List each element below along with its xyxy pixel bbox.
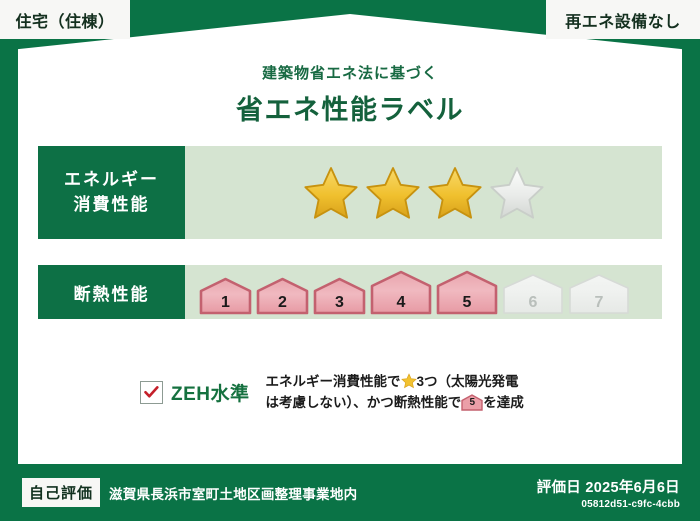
energy-performance-label-cell: エネルギー 消費性能 (38, 146, 185, 239)
insulation-badge-number: 5 (436, 294, 498, 312)
insulation-badge-2: 2 (256, 277, 309, 315)
property-address: 滋賀県長浜市室町土地区画整理事業地内 (109, 483, 357, 503)
insulation-rating-panel: 1234567 (185, 265, 662, 319)
insulation-badge-3: 3 (313, 277, 366, 315)
insulation-badge-number: 4 (370, 294, 432, 312)
insulation-performance-label-cell: 断熱性能 (38, 265, 185, 319)
zeh-checkbox[interactable] (140, 381, 163, 404)
insulation-badge-6: 6 (502, 273, 564, 315)
insulation-badge-number: 1 (199, 294, 252, 312)
energy-rating-panel (185, 146, 662, 239)
check-icon (144, 386, 159, 399)
insulation-badge-number: 7 (568, 294, 630, 312)
zeh-desc-line2-b: を達成 (483, 395, 524, 410)
evaluation-date: 評価日 2025年6月6日 (537, 476, 680, 497)
building-type-tag: 住宅（住棟） (0, 0, 130, 39)
zeh-desc-line1-b: 3つ（太陽光発電 (417, 374, 519, 389)
zeh-standard-section: ZEH水準 エネルギー消費性能で3つ（太陽光発電 は考慮しない）、かつ断熱性能で… (140, 372, 524, 414)
insulation-label-text: 断熱性能 (74, 280, 150, 305)
star-empty-icon (488, 165, 546, 221)
energy-performance-row: エネルギー 消費性能 (38, 146, 662, 239)
star-rating (302, 165, 546, 221)
zeh-desc-line2-a: は考慮しない）、かつ断熱性能で (266, 395, 462, 410)
inline-badge-number: 5 (461, 395, 483, 411)
zeh-label-text: ZEH水準 (171, 379, 250, 406)
zeh-desc-line1-a: エネルギー消費性能で (266, 374, 401, 389)
insulation-badge-1: 1 (199, 277, 252, 315)
insulation-performance-row: 断熱性能 1234567 (38, 265, 662, 319)
star-filled-icon (302, 165, 360, 221)
insulation-badge-7: 7 (568, 273, 630, 315)
energy-label-line2: 消費性能 (74, 193, 150, 218)
zeh-checkbox-group: ZEH水準 (140, 379, 250, 406)
self-evaluation-badge: 自己評価 (22, 478, 100, 507)
insulation-grade-badges: 1234567 (199, 270, 630, 315)
label-main-title: 省エネ性能ラベル (0, 88, 700, 127)
footer-right-group: 評価日 2025年6月6日 05812d51-c9fc-4cbb (537, 476, 680, 510)
renewable-energy-tag: 再エネ設備なし (546, 0, 700, 39)
star-icon (401, 373, 417, 389)
title-block: 建築物省エネ法に基づく 省エネ性能ラベル (0, 62, 700, 127)
insulation-badge-4: 4 (370, 270, 432, 315)
star-filled-icon (426, 165, 484, 221)
energy-label-line1: エネルギー (64, 168, 159, 193)
footer-bar: 自己評価 滋賀県長浜市室町土地区画整理事業地内 評価日 2025年6月6日 05… (0, 464, 700, 521)
document-id: 05812d51-c9fc-4cbb (537, 499, 680, 510)
insulation-badge-5: 5 (436, 270, 498, 315)
star-filled-icon (364, 165, 422, 221)
zeh-description: エネルギー消費性能で3つ（太陽光発電 は考慮しない）、かつ断熱性能で5を達成 (266, 372, 524, 414)
insulation-badge-number: 6 (502, 294, 564, 312)
energy-performance-label: 住宅（住棟） 再エネ設備なし 建築物省エネ法に基づく 省エネ性能ラベル エネルギ… (0, 0, 700, 521)
inline-insulation-badge: 5 (461, 394, 483, 411)
insulation-badge-number: 3 (313, 294, 366, 312)
label-subtitle: 建築物省エネ法に基づく (0, 62, 700, 83)
insulation-badge-number: 2 (256, 294, 309, 312)
